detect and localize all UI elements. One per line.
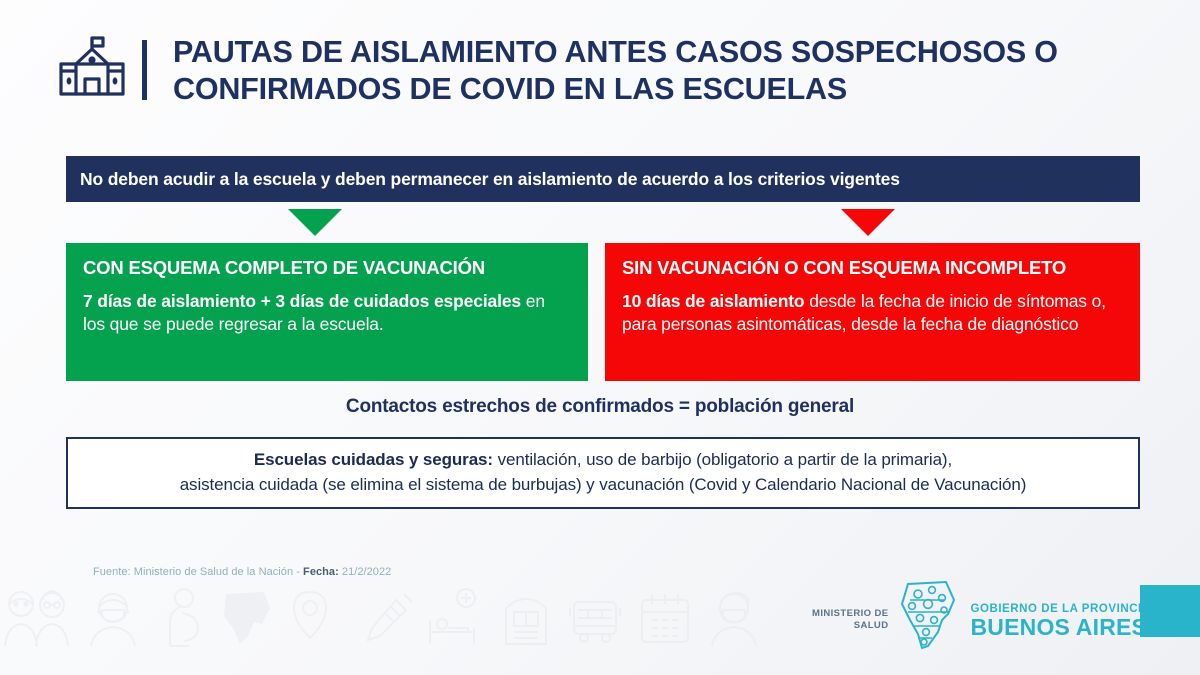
page-title: PAUTAS DE AISLAMIENTO ANTES CASOS SOSPEC… [173, 34, 1058, 108]
school-building-icon [56, 36, 128, 104]
syringe-icon [356, 586, 418, 648]
pregnant-person-icon [152, 586, 210, 648]
location-pin-icon [286, 586, 348, 648]
source-line: Fuente: Ministerio de Salud de la Nación… [93, 566, 391, 578]
bus-icon [564, 586, 626, 648]
hospital-bed-icon [426, 586, 488, 648]
decorative-icon-strip [0, 578, 680, 656]
teal-accent-block [1140, 585, 1200, 637]
ministry-line-2: SALUD [812, 620, 888, 632]
safe-schools-note-text: Escuelas cuidadas y seguras: ventilación… [180, 448, 1027, 497]
note-bold-lead: Escuelas cuidadas y seguras: [254, 450, 493, 469]
calendar-icon [634, 586, 696, 648]
masked-person-icon [82, 586, 144, 648]
footer-logo-group: MINISTERIO DE SALUD GOBIERNO DE LA PROVI… [812, 580, 1171, 650]
train-icon [496, 586, 556, 648]
page-title-line-2: CONFIRMADOS DE COVID EN LAS ESCUELAS [173, 71, 1058, 108]
note-line2: asistencia cuidada (se elimina el sistem… [180, 475, 1027, 494]
buenos-aires-province-map-icon [898, 580, 960, 650]
source-date-value: 21/2/2022 [339, 566, 392, 578]
safe-schools-note-box: Escuelas cuidadas y seguras: ventilación… [66, 437, 1140, 509]
ministry-of-health-wordmark: MINISTERIO DE SALUD [812, 598, 888, 632]
isolation-banner-text: No deben acudir a la escuela y deben per… [80, 169, 900, 190]
panel-sin-vacunacion: SIN VACUNACIÓN O CON ESQUEMA INCOMPLETO … [605, 243, 1140, 381]
panel-red-heading: SIN VACUNACIÓN O CON ESQUEMA INCOMPLETO [622, 257, 1123, 279]
masked-worker-icon [704, 586, 764, 648]
page-title-line-1: PAUTAS DE AISLAMIENTO ANTES CASOS SOSPEC… [173, 34, 1058, 71]
source-prefix: Fuente: Ministerio de Salud de la Nación… [93, 566, 303, 578]
panel-green-body: 7 días de aislamiento + 3 días de cuidad… [83, 290, 571, 337]
title-divider-rule [142, 40, 147, 100]
panel-con-esquema-completo: CON ESQUEMA COMPLETO DE VACUNACIÓN 7 día… [66, 243, 588, 381]
buenos-aires-map-icon [218, 586, 278, 648]
elderly-couple-icon [0, 586, 74, 648]
ministry-line-1: MINISTERIO DE [812, 608, 888, 620]
panel-red-body: 10 días de aislamiento desde la fecha de… [622, 290, 1123, 337]
middle-statement: Contactos estrechos de confirmados = pob… [0, 396, 1200, 418]
source-date-label: Fecha: [303, 566, 339, 578]
panel-red-body-bold: 10 días de aislamiento [622, 291, 804, 311]
note-line1-rest: ventilación, uso de barbijo (obligatorio… [493, 450, 952, 469]
header: PAUTAS DE AISLAMIENTO ANTES CASOS SOSPEC… [56, 34, 1058, 108]
panel-green-heading: CON ESQUEMA COMPLETO DE VACUNACIÓN [83, 257, 571, 279]
isolation-banner: No deben acudir a la escuela y deben per… [66, 156, 1140, 202]
down-triangle-green-icon [288, 209, 342, 236]
down-triangle-red-icon [841, 209, 895, 236]
panel-green-body-bold: 7 días de aislamiento + 3 días de cuidad… [83, 291, 521, 311]
infographic-slide: PAUTAS DE AISLAMIENTO ANTES CASOS SOSPEC… [0, 0, 1200, 675]
